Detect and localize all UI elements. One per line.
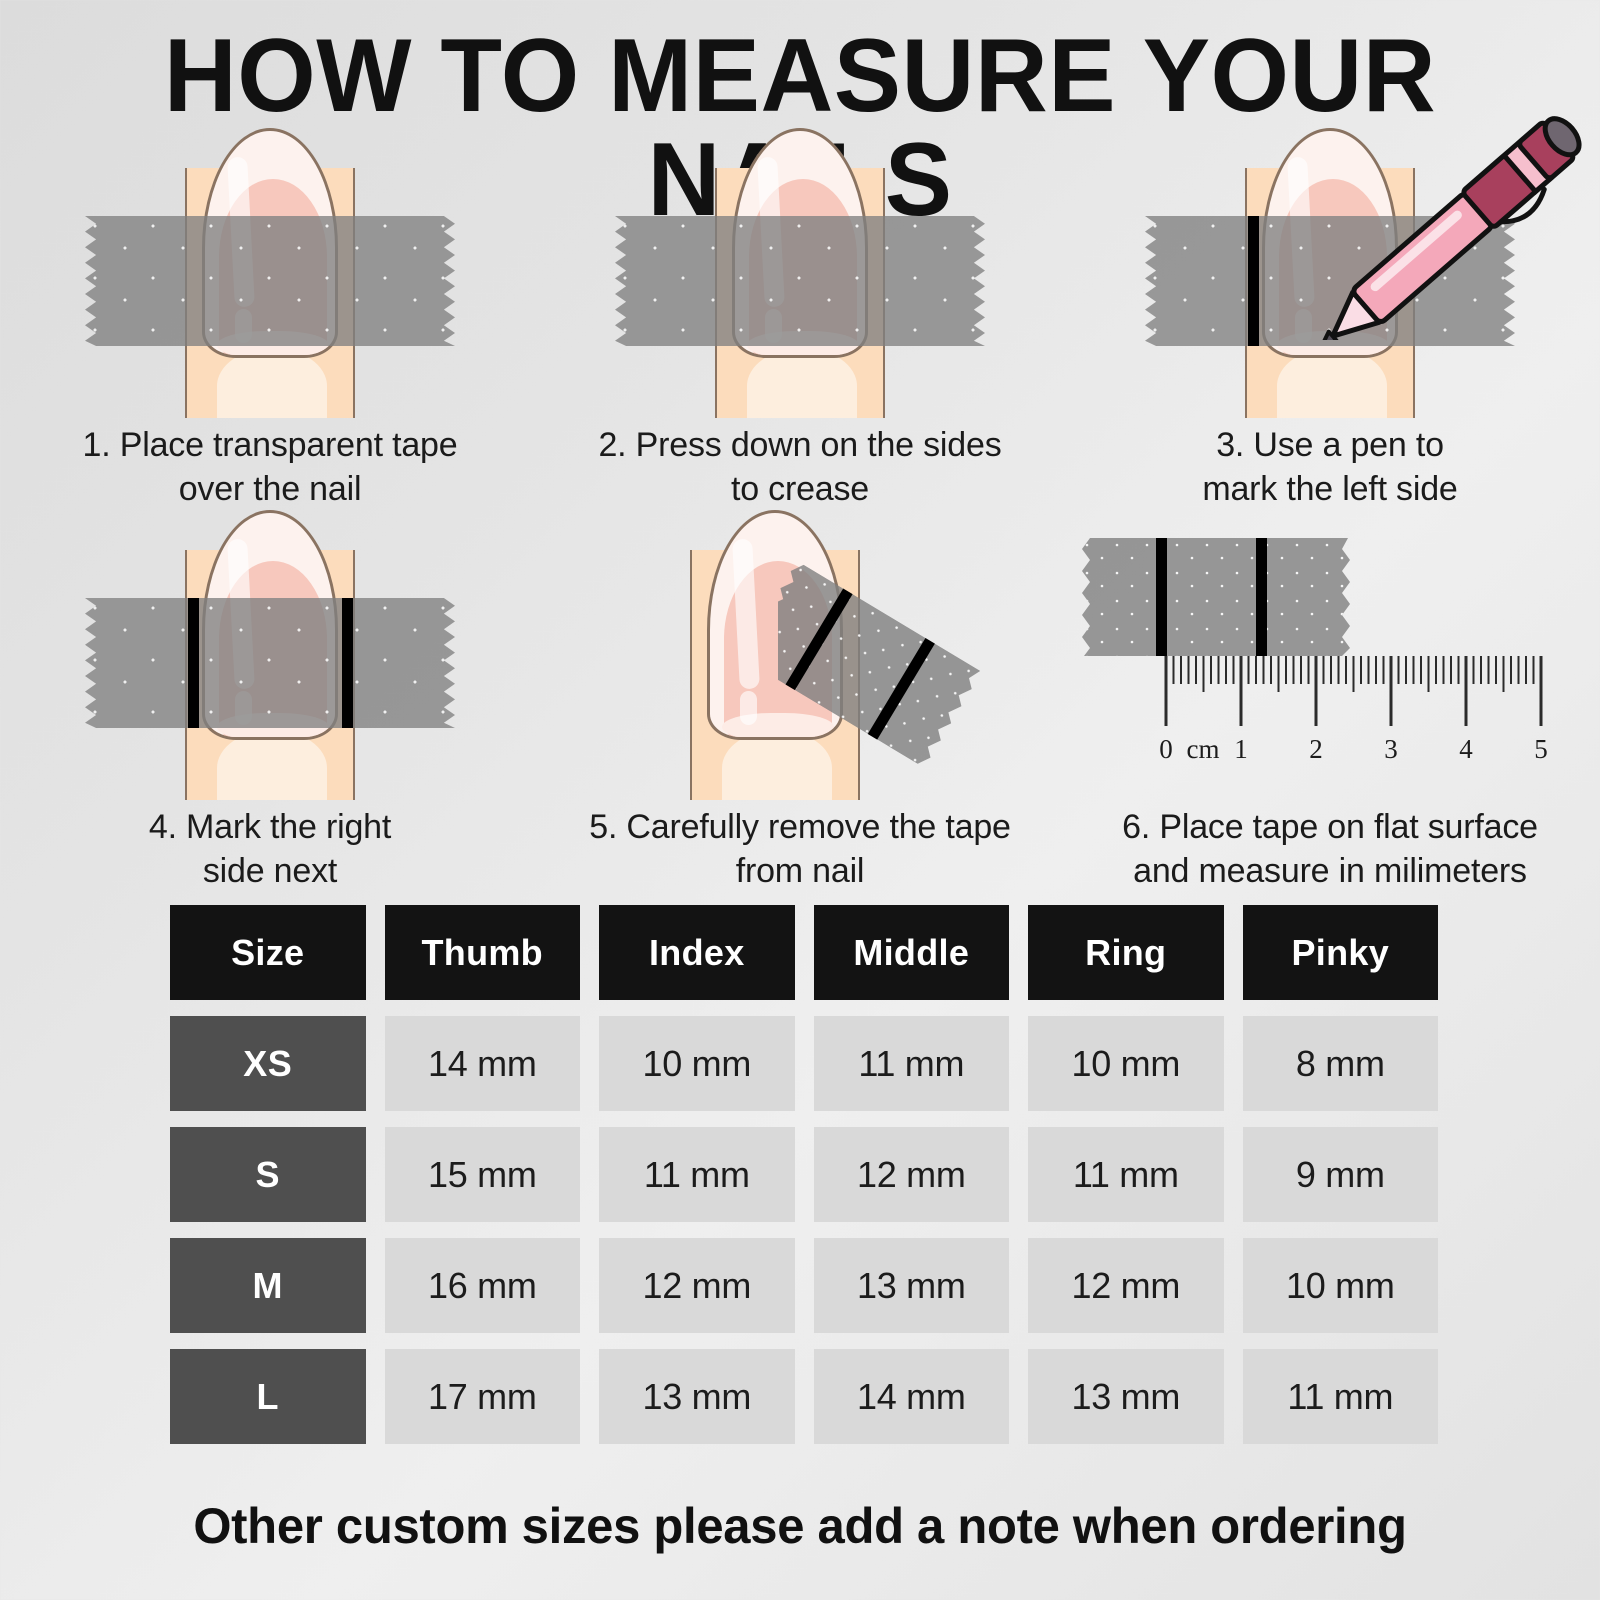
cell-l-pinky: 11 mm <box>1243 1349 1439 1444</box>
step-1-caption-line2: over the nail <box>10 468 530 512</box>
step-6-caption-line2: and measure in milimeters <box>1070 850 1590 894</box>
step-5-caption-line1: 5. Carefully remove the tape <box>540 806 1060 850</box>
step-2-caption-line2: to crease <box>540 468 1060 512</box>
table-header-thumb: Thumb <box>385 905 581 1000</box>
table-header-index: Index <box>599 905 795 1000</box>
cell-m-ring: 12 mm <box>1028 1238 1224 1333</box>
ruler-icon: 0 cm 1 2 3 4 5 <box>1070 520 1590 800</box>
cell-s-ring: 11 mm <box>1028 1127 1224 1222</box>
table-header-middle: Middle <box>814 905 1010 1000</box>
table-row: XS 14 mm 10 mm 11 mm 10 mm 8 mm <box>170 1016 1438 1111</box>
peeled-tape-illustration <box>778 556 1078 786</box>
step-4-illustration <box>10 510 530 800</box>
finger-knuckle <box>217 730 327 800</box>
table-header-row: Size Thumb Index Middle Ring Pinky <box>170 905 1438 1000</box>
transparent-tape <box>85 598 455 728</box>
step-4-caption: 4. Mark the right side next <box>10 800 530 893</box>
ruler-tick-5: 5 <box>1534 734 1548 764</box>
cell-l-thumb: 17 mm <box>385 1349 581 1444</box>
table-row: M 16 mm 12 mm 13 mm 12 mm 10 mm <box>170 1238 1438 1333</box>
cell-s-thumb: 15 mm <box>385 1127 581 1222</box>
step-4-caption-line2: side next <box>10 850 530 894</box>
step-5: 5. Carefully remove the tape from nail <box>540 510 1060 893</box>
finger-knuckle <box>1277 348 1387 418</box>
table-header-ring: Ring <box>1028 905 1224 1000</box>
finger-knuckle <box>747 348 857 418</box>
peeled-tape-icon <box>778 556 1078 786</box>
step-2-caption-line1: 2. Press down on the sides <box>540 424 1060 468</box>
ruler-ticks <box>1166 656 1541 726</box>
step-3-caption: 3. Use a pen to mark the left side <box>1070 418 1590 511</box>
left-mark <box>188 598 199 728</box>
step-2-illustration <box>540 128 1060 418</box>
step-2-caption: 2. Press down on the sides to crease <box>540 418 1060 511</box>
step-1-caption-line1: 1. Place transparent tape <box>10 424 530 468</box>
footer-note: Other custom sizes please add a note whe… <box>16 1497 1584 1555</box>
cell-m-pinky: 10 mm <box>1243 1238 1439 1333</box>
size-label-xs: XS <box>170 1016 366 1111</box>
table-row: S 15 mm 11 mm 12 mm 11 mm 9 mm <box>170 1127 1438 1222</box>
table-row: L 17 mm 13 mm 14 mm 13 mm 11 mm <box>170 1349 1438 1444</box>
nail-shine-dot <box>740 691 757 725</box>
step-1: 1. Place transparent tape over the nail <box>10 128 530 511</box>
step-4: 4. Mark the right side next <box>10 510 530 893</box>
right-mark <box>342 598 353 728</box>
size-label-m: M <box>170 1238 366 1333</box>
ruler-tick-4: 4 <box>1459 734 1473 764</box>
step-3-illustration <box>1070 128 1590 418</box>
cell-m-thumb: 16 mm <box>385 1238 581 1333</box>
ruler-labels: 0 cm 1 2 3 4 5 <box>1159 734 1548 764</box>
ruler-tick-1: 1 <box>1234 734 1248 764</box>
cell-m-index: 12 mm <box>599 1238 795 1333</box>
cell-xs-middle: 11 mm <box>814 1016 1010 1111</box>
cell-l-index: 13 mm <box>599 1349 795 1444</box>
tape-piece <box>1080 538 1352 656</box>
finger-knuckle <box>217 348 327 418</box>
creased-tape <box>615 216 985 346</box>
cell-xs-index: 10 mm <box>599 1016 795 1111</box>
cell-s-index: 11 mm <box>599 1127 795 1222</box>
ruler-illustration: 0 cm 1 2 3 4 5 <box>1070 520 1590 800</box>
cell-s-middle: 12 mm <box>814 1127 1010 1222</box>
ruler-unit-label: cm <box>1187 734 1220 764</box>
step-3-caption-line2: mark the left side <box>1070 468 1590 512</box>
transparent-tape <box>85 216 455 346</box>
pen-icon <box>1306 110 1600 340</box>
cell-l-ring: 13 mm <box>1028 1349 1224 1444</box>
table-header-pinky: Pinky <box>1243 905 1439 1000</box>
cell-l-middle: 14 mm <box>814 1349 1010 1444</box>
ruler-tick-3: 3 <box>1384 734 1398 764</box>
cell-s-pinky: 9 mm <box>1243 1127 1439 1222</box>
steps-grid: 1. Place transparent tape over the nail … <box>0 128 1600 888</box>
step-6: 0 cm 1 2 3 4 5 6. Place tape on flat sur… <box>1070 510 1590 893</box>
cell-m-middle: 13 mm <box>814 1238 1010 1333</box>
left-mark <box>1248 216 1259 346</box>
table-header-size: Size <box>170 905 366 1000</box>
size-label-s: S <box>170 1127 366 1222</box>
cell-xs-pinky: 8 mm <box>1243 1016 1439 1111</box>
ruler-tick-2: 2 <box>1309 734 1323 764</box>
cell-xs-thumb: 14 mm <box>385 1016 581 1111</box>
step-3: 3. Use a pen to mark the left side <box>1070 128 1590 511</box>
step-3-caption-line1: 3. Use a pen to <box>1070 424 1590 468</box>
step-6-illustration: 0 cm 1 2 3 4 5 <box>1070 510 1590 800</box>
pen-illustration <box>1306 110 1600 340</box>
step-4-caption-line1: 4. Mark the right <box>10 806 530 850</box>
step-5-caption: 5. Carefully remove the tape from nail <box>540 800 1060 893</box>
step-5-caption-line2: from nail <box>540 850 1060 894</box>
size-label-l: L <box>170 1349 366 1444</box>
size-chart-table: Size Thumb Index Middle Ring Pinky XS 14… <box>170 905 1438 1460</box>
step-1-caption: 1. Place transparent tape over the nail <box>10 418 530 511</box>
step-6-caption-line1: 6. Place tape on flat surface <box>1070 806 1590 850</box>
step-1-illustration <box>10 128 530 418</box>
ruler-tick-0: 0 <box>1159 734 1173 764</box>
step-6-caption: 6. Place tape on flat surface and measur… <box>1070 800 1590 893</box>
step-2: 2. Press down on the sides to crease <box>540 128 1060 511</box>
cell-xs-ring: 10 mm <box>1028 1016 1224 1111</box>
step-5-illustration <box>540 510 1060 800</box>
